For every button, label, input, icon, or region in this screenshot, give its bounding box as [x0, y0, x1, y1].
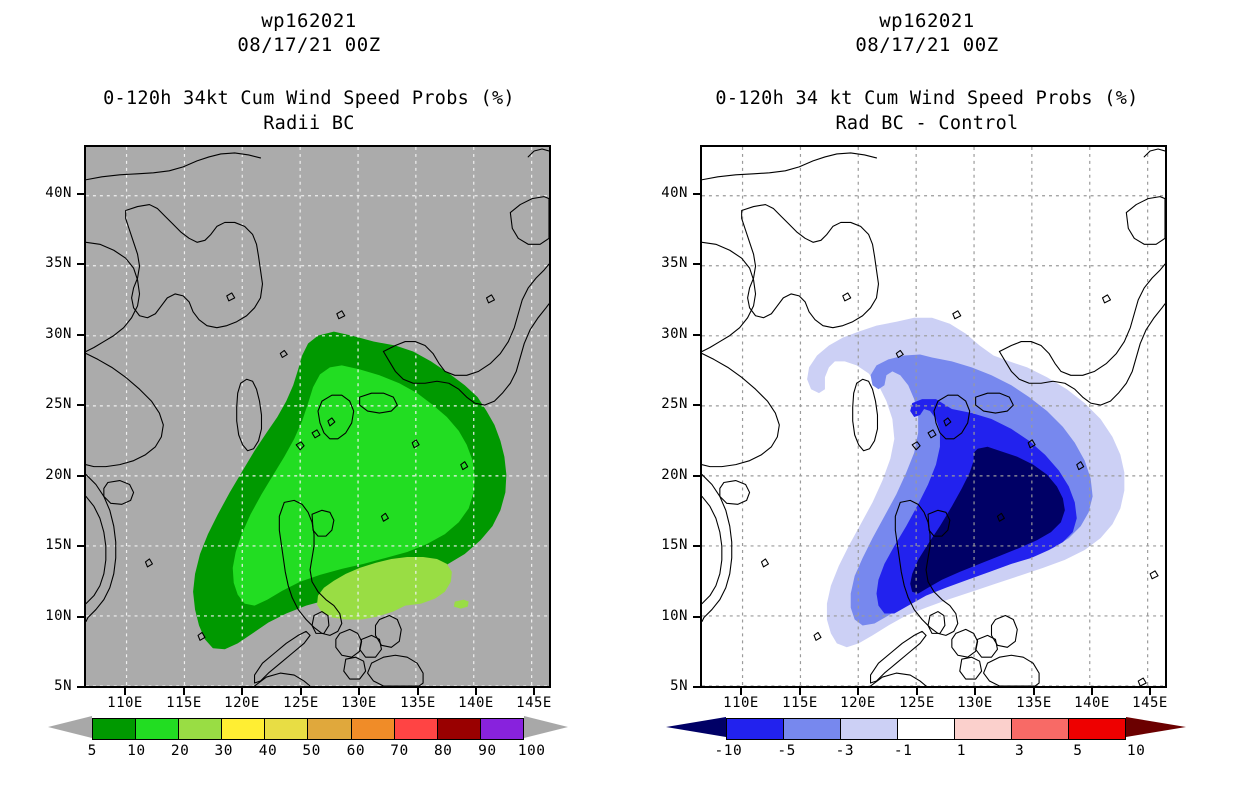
colorbar-tick-labels: 5 10 20 30 40 50 60 70 80 90 100 — [48, 743, 568, 763]
colorbar-cells — [726, 718, 1126, 740]
coastlines — [86, 147, 549, 686]
storm-id: wp162021 — [0, 10, 618, 32]
y-tick — [77, 616, 84, 618]
y-tick — [77, 475, 84, 477]
storm-id: wp162021 — [618, 10, 1236, 32]
y-tick — [693, 334, 700, 336]
colorbar-cell-m1-1 — [898, 719, 955, 739]
colorbar-tick-labels: -10 -5 -3 -1 1 3 5 10 — [666, 743, 1186, 763]
colorbar-low-arrow — [48, 716, 92, 742]
x-tick-label: 135E — [1004, 695, 1064, 711]
x-tick-label: 145E — [504, 695, 564, 711]
colorbar-tick: 30 — [215, 743, 233, 759]
colorbar-cell-70-80 — [395, 719, 438, 739]
x-tick-label: 130E — [945, 695, 1005, 711]
colorbar-tick: -3 — [836, 743, 854, 759]
colorbar-tick: 3 — [1015, 743, 1024, 759]
y-tick-label: 35N — [642, 255, 688, 271]
y-tick — [693, 545, 700, 547]
colorbar-tick: 60 — [347, 743, 365, 759]
y-tick — [77, 404, 84, 406]
panel-rad-bc-minus-control: wp162021 08/17/21 00Z 0-120h 34 kt Cum W… — [618, 0, 1236, 800]
y-tick — [693, 686, 700, 688]
y-tick-label: 15N — [642, 537, 688, 553]
x-tick — [740, 688, 742, 695]
x-tick-label: 125E — [271, 695, 331, 711]
y-tick-label: 10N — [26, 608, 72, 624]
colorbar-cell-20-30 — [179, 719, 222, 739]
x-tick — [974, 688, 976, 695]
colorbar-difference[interactable]: -10 -5 -3 -1 1 3 5 10 — [666, 716, 1186, 742]
x-tick — [241, 688, 243, 695]
x-tick — [857, 688, 859, 695]
y-tick — [77, 193, 84, 195]
y-tick — [77, 334, 84, 336]
x-tick — [1033, 688, 1035, 695]
x-tick — [300, 688, 302, 695]
y-tick — [693, 616, 700, 618]
forecast-datetime: 08/17/21 00Z — [0, 34, 618, 56]
colorbar-tick: 5 — [88, 743, 97, 759]
x-tick — [124, 688, 126, 695]
y-tick-label: 40N — [642, 185, 688, 201]
colorbar-tick: 70 — [390, 743, 408, 759]
colorbar-tick: -5 — [777, 743, 795, 759]
colorbar-cell-3-5 — [1012, 719, 1069, 739]
x-tick — [1149, 688, 1151, 695]
y-tick-label: 30N — [642, 326, 688, 342]
x-tick-label: 120E — [212, 695, 272, 711]
colorbar-tick: -10 — [715, 743, 743, 759]
y-tick-label: 10N — [642, 608, 688, 624]
colorbar-high-arrow — [524, 716, 568, 742]
figure-root: wp162021 08/17/21 00Z 0-120h 34kt Cum Wi… — [0, 0, 1236, 800]
y-tick — [693, 263, 700, 265]
chart-subtitle: Rad BC - Control — [618, 113, 1236, 134]
x-tick-label: 135E — [388, 695, 448, 711]
x-tick-label: 125E — [887, 695, 947, 711]
colorbar-cell-m5-m3 — [784, 719, 841, 739]
x-tick-label: 140E — [1062, 695, 1122, 711]
colorbar-cell-5-10 — [1069, 719, 1125, 739]
x-tick — [916, 688, 918, 695]
x-tick-label: 110E — [95, 695, 155, 711]
colorbar-tick: 90 — [478, 743, 496, 759]
x-tick-label: 145E — [1120, 695, 1180, 711]
chart-title: 0-120h 34kt Cum Wind Speed Probs (%) — [0, 88, 618, 109]
y-tick — [693, 404, 700, 406]
y-tick-label: 35N — [26, 255, 72, 271]
map-frame — [84, 145, 551, 688]
colorbar-cell-1-3 — [955, 719, 1012, 739]
colorbar-tick: 50 — [302, 743, 320, 759]
coastlines — [702, 147, 1165, 686]
x-tick — [533, 688, 535, 695]
colorbar-high-arrow — [1126, 716, 1186, 742]
colorbar-cells — [92, 718, 524, 740]
y-tick-label: 40N — [26, 185, 72, 201]
colorbar-cell-30-40 — [222, 719, 265, 739]
colorbar-tick: -1 — [894, 743, 912, 759]
colorbar-cell-50-60 — [308, 719, 351, 739]
x-tick — [358, 688, 360, 695]
forecast-datetime: 08/17/21 00Z — [618, 34, 1236, 56]
x-tick-label: 110E — [711, 695, 771, 711]
y-tick-label: 20N — [642, 467, 688, 483]
colorbar-tick: 10 — [1127, 743, 1145, 759]
y-tick — [693, 475, 700, 477]
colorbar-tick: 20 — [171, 743, 189, 759]
colorbar-tick: 40 — [259, 743, 277, 759]
x-tick-label: 120E — [828, 695, 888, 711]
chart-subtitle: Radii BC — [0, 113, 618, 134]
x-tick — [799, 688, 801, 695]
chart-title: 0-120h 34 kt Cum Wind Speed Probs (%) — [618, 88, 1236, 109]
y-tick — [77, 686, 84, 688]
y-tick-label: 25N — [26, 396, 72, 412]
map-frame — [700, 145, 1167, 688]
y-tick — [693, 193, 700, 195]
colorbar-cell-5-10 — [93, 719, 136, 739]
colorbar-cell-m3-m1 — [841, 719, 898, 739]
colorbar-probability[interactable]: 5 10 20 30 40 50 60 70 80 90 100 — [48, 716, 568, 742]
colorbar-tick: 100 — [518, 743, 546, 759]
colorbar-low-arrow — [666, 716, 726, 742]
map-plot-left[interactable]: 5N 10N 15N 20N 25N 30N 35N 40N 110E — [84, 145, 551, 688]
colorbar-cell-90-100 — [481, 719, 523, 739]
y-tick — [77, 263, 84, 265]
y-tick-label: 30N — [26, 326, 72, 342]
x-tick — [475, 688, 477, 695]
y-tick-label: 5N — [26, 678, 72, 694]
x-tick — [1091, 688, 1093, 695]
x-tick — [183, 688, 185, 695]
y-tick-label: 5N — [642, 678, 688, 694]
x-tick-label: 115E — [154, 695, 214, 711]
colorbar-tick: 5 — [1073, 743, 1082, 759]
x-tick-label: 140E — [446, 695, 506, 711]
colorbar-cell-10-20 — [136, 719, 179, 739]
colorbar-cell-80-90 — [438, 719, 481, 739]
y-tick — [77, 545, 84, 547]
colorbar-tick: 1 — [957, 743, 966, 759]
panel-radii-bc: wp162021 08/17/21 00Z 0-120h 34kt Cum Wi… — [0, 0, 618, 800]
y-tick-label: 25N — [642, 396, 688, 412]
colorbar-cell-40-50 — [265, 719, 308, 739]
y-tick-label: 20N — [26, 467, 72, 483]
colorbar-tick: 80 — [434, 743, 452, 759]
colorbar-cell-m10-m5 — [727, 719, 784, 739]
x-tick-label: 115E — [770, 695, 830, 711]
colorbar-tick: 10 — [127, 743, 145, 759]
y-tick-label: 15N — [26, 537, 72, 553]
map-plot-right[interactable]: 5N 10N 15N 20N 25N 30N 35N 40N 110E — [700, 145, 1167, 688]
x-tick-label: 130E — [329, 695, 389, 711]
colorbar-cell-60-70 — [352, 719, 395, 739]
x-tick — [417, 688, 419, 695]
